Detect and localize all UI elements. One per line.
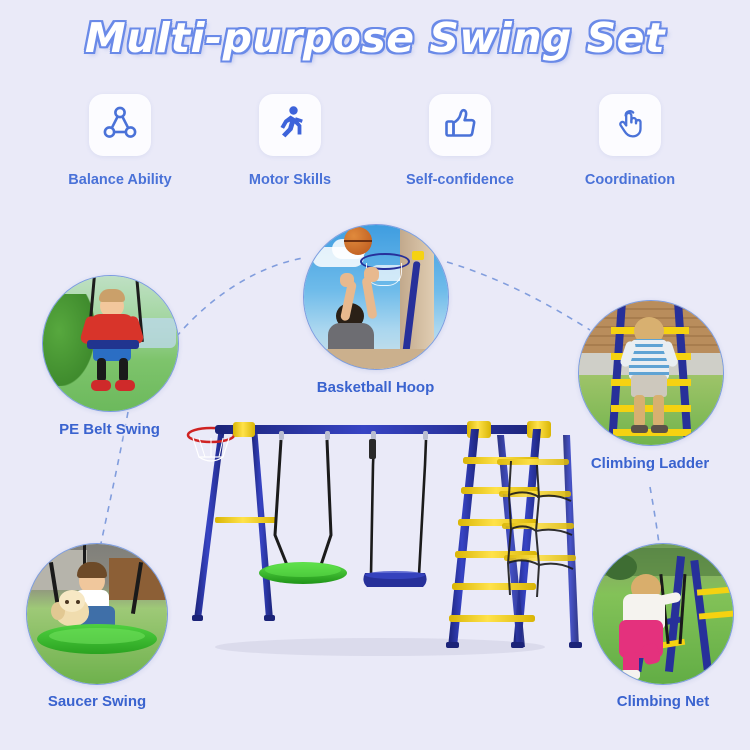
callout-climbing-net: Climbing Net [592,543,734,685]
feature-label: Motor Skills [249,172,331,188]
callout-label: Basketball Hoop [283,379,468,396]
girl-climbing-net-scene [593,544,733,684]
feature-balance-ability: Balance Ability [40,94,200,188]
page-title: Multi-purpose Swing Set [85,14,665,62]
callout-basketball-hoop: Basketball Hoop [303,224,449,370]
boy-shooting-basketball-scene [304,225,448,369]
tap-hand-icon [611,104,649,147]
callout-climbing-ladder: Climbing Ladder [578,300,724,446]
callout-photo [578,300,724,446]
product-image-swing-set [175,395,585,670]
callout-label: Saucer Swing [12,693,182,710]
child-climbing-ladder-scene [579,301,723,445]
running-person-icon [271,104,309,147]
feature-icon-tile [429,94,491,156]
boy-on-belt-swing-scene [43,276,178,411]
callout-photo [26,543,168,685]
feature-self-confidence: Self-confidence [380,94,540,188]
balance-nodes-icon [101,104,139,147]
callout-photo [42,275,179,412]
callout-pe-belt-swing: PE Belt Swing [42,275,179,412]
feature-label: Coordination [585,172,675,188]
callout-label: Climbing Net [578,693,748,710]
feature-coordination: Coordination [550,94,710,188]
page-title-container: Multi-purpose Swing Set [0,14,750,62]
thumbs-up-icon [441,104,479,147]
feature-benefits-row: Balance Ability Motor Skills [40,94,710,188]
feature-label: Balance Ability [68,172,171,188]
feature-icon-tile [259,94,321,156]
callout-photo [303,224,449,370]
feature-icon-tile [89,94,151,156]
infographic-page: Multi-purpose Swing Set [0,0,750,750]
girl-with-puppy-on-saucer-swing-scene [27,544,167,684]
callout-saucer-swing: Saucer Swing [26,543,168,685]
callout-label: Climbing Ladder [560,455,740,472]
swing-set-illustration [175,395,585,670]
feature-motor-skills: Motor Skills [210,94,370,188]
feature-icon-tile [599,94,661,156]
feature-label: Self-confidence [406,172,514,188]
callout-photo [592,543,734,685]
